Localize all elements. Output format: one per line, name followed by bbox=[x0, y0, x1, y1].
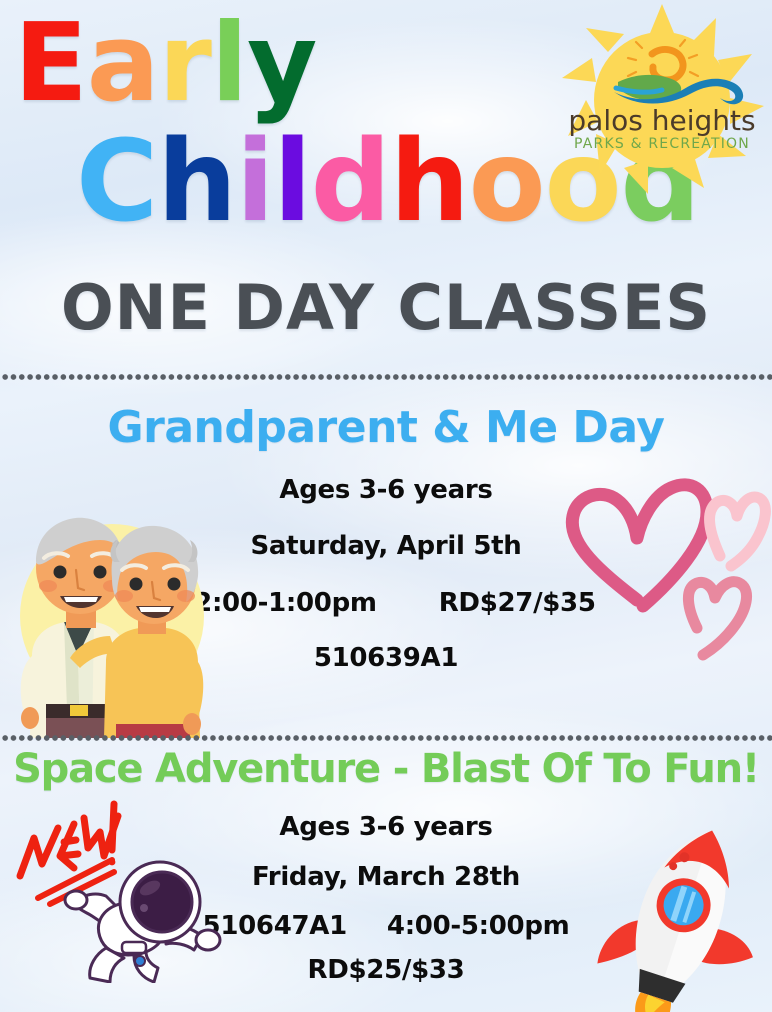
title-letter: d bbox=[311, 126, 390, 238]
title-letter: l bbox=[273, 126, 310, 238]
astronaut-illustration bbox=[62, 858, 227, 983]
flyer-subheading: ONE DAY CLASSES bbox=[0, 271, 772, 344]
hearts-decoration bbox=[555, 460, 772, 685]
palos-heights-logo: palos heights PARKS & RECREATION bbox=[556, 2, 768, 198]
title-letter: y bbox=[247, 10, 316, 118]
flyer-page: Early Childhood ONE DAY CLASSES bbox=[0, 0, 772, 1012]
title-letter: i bbox=[236, 126, 273, 238]
section-title-grandparent: Grandparent & Me Day bbox=[0, 402, 772, 453]
title-letter: l bbox=[211, 10, 247, 118]
heart-small-top-icon bbox=[710, 497, 766, 566]
title-letter: h bbox=[157, 126, 236, 238]
title-letter: h bbox=[390, 126, 469, 238]
rocket-illustration bbox=[596, 822, 772, 1012]
space-time: 4:00-5:00pm bbox=[387, 911, 570, 941]
title-letter: E bbox=[14, 10, 87, 118]
elderly-couple-illustration bbox=[8, 496, 208, 738]
logo-text-primary: palos heights bbox=[568, 104, 755, 137]
flyer-title-line-early: Early bbox=[14, 10, 316, 118]
title-letter: o bbox=[469, 126, 545, 238]
title-letter: r bbox=[159, 10, 211, 118]
dotted-divider-top bbox=[0, 374, 772, 380]
title-letter: C bbox=[76, 126, 157, 238]
title-letter: a bbox=[87, 10, 159, 118]
heart-small-bottom-icon bbox=[688, 582, 746, 655]
dotted-divider-middle bbox=[0, 735, 772, 741]
section-title-space: Space Adventure - Blast Of To Fun! bbox=[0, 746, 772, 792]
logo-text-secondary: PARKS & RECREATION bbox=[574, 136, 750, 152]
